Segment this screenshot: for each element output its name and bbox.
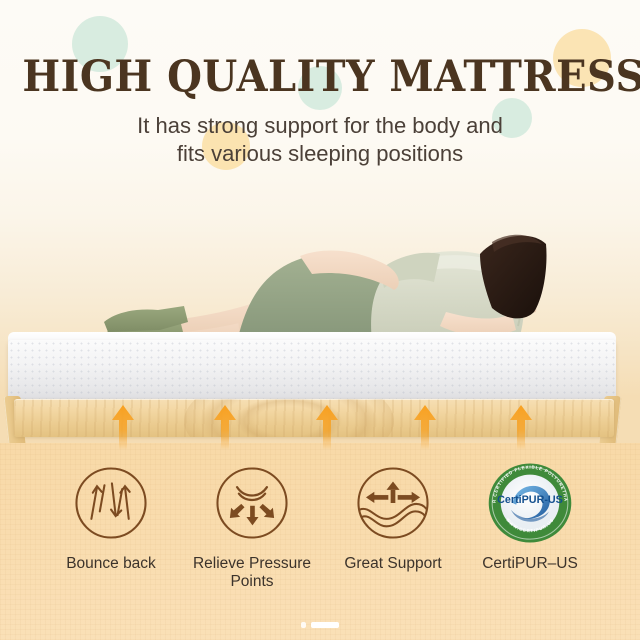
support-arrow [508,404,534,450]
page-subtitle: It has strong support for the body and f… [0,112,640,168]
pressure-relief-icon-wrapper [177,457,327,549]
feature-item-great-support[interactable]: Great Support [318,457,468,573]
feature-label-relieve-pressure: Relieve PressurePoints [177,555,327,591]
feature-label-great-support: Great Support [318,555,468,573]
hero-scene [0,200,640,460]
support-arrow [412,404,438,450]
subtitle-line-2: fits various sleeping positions [177,141,463,166]
great-support-icon [351,461,435,545]
support-arrow [314,404,340,450]
support-arrow [212,404,238,450]
certipur-badge-icon: CertiPUR-US CERTIPUR CERTIFIED FLEXIBLE … [487,460,573,546]
mattress-body [8,340,616,402]
feature-label-certipur-us: CertiPUR–US [455,555,605,573]
support-arrow [110,404,136,450]
page-title: HIGH QUALITY MATTRESS [22,52,617,102]
certipur-badge-icon-wrapper: CertiPUR-US CERTIPUR CERTIFIED FLEXIBLE … [455,457,605,549]
person-lying-illustration [88,226,548,346]
feature-item-relieve-pressure[interactable]: Relieve PressurePoints [177,457,327,591]
header-section: HIGH QUALITY MATTRESS It has strong supp… [0,0,640,200]
great-support-icon-wrapper [318,457,468,549]
features-panel: Bounce back Relieve PressurePoints Great… [0,443,640,640]
product-infographic-slide: HIGH QUALITY MATTRESS It has strong supp… [0,0,640,640]
bounce-back-icon [69,461,153,545]
svg-text:CertiPUR-US: CertiPUR-US [497,494,563,506]
feature-label-bounce-back: Bounce back [36,555,186,573]
subtitle-line-1: It has strong support for the body and [137,113,503,138]
bounce-back-icon-wrapper [36,457,186,549]
feature-list: Bounce back Relieve PressurePoints Great… [0,443,640,603]
pager-dot-1[interactable] [301,622,306,628]
pressure-relief-icon [210,461,294,545]
pager-dot-2[interactable] [311,622,339,628]
feature-item-bounce-back[interactable]: Bounce back [36,457,186,573]
carousel-pager[interactable] [0,622,640,628]
feature-item-certipur-us[interactable]: CertiPUR-US CERTIPUR CERTIFIED FLEXIBLE … [455,457,605,573]
